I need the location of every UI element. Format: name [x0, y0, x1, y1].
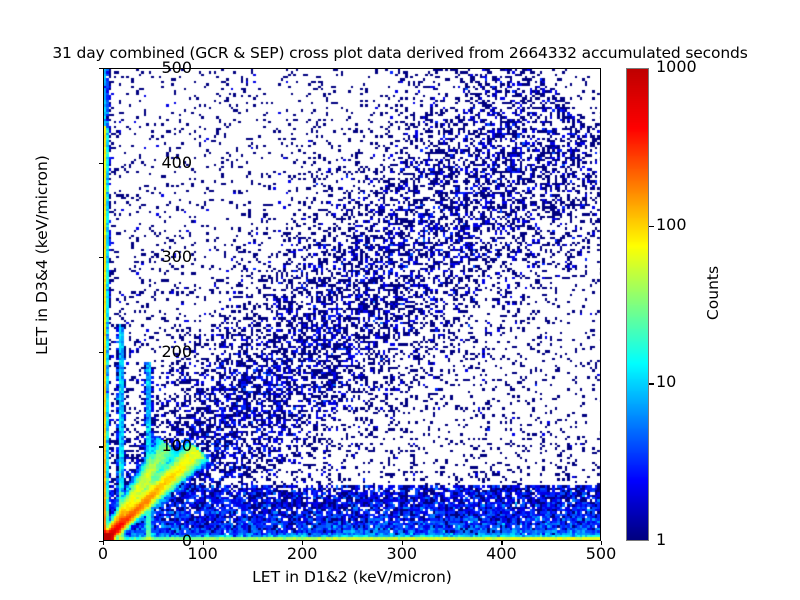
heatmap-canvas — [104, 69, 601, 541]
y-axis-label: LET in D3&4 (keV/micron) — [33, 15, 51, 495]
plot-area — [103, 68, 601, 541]
x-tick-label: 0 — [98, 546, 108, 562]
colorbar-tick-label: 1 — [656, 532, 666, 548]
y-tick-label: 100 — [161, 438, 192, 454]
colorbar-tick-label: 100 — [656, 217, 687, 233]
y-tick-mark — [99, 446, 103, 447]
y-tick-label: 300 — [161, 249, 192, 265]
colorbar-gradient — [627, 69, 648, 540]
x-tick-label: 500 — [586, 546, 617, 562]
figure: 31 day combined (GCR & SEP) cross plot d… — [0, 0, 800, 600]
y-tick-label: 200 — [161, 344, 192, 360]
y-tick-label: 500 — [161, 60, 192, 76]
y-tick-mark — [99, 68, 103, 69]
x-axis-label: LET in D1&2 (keV/micron) — [103, 568, 601, 586]
x-tick-label: 200 — [287, 546, 318, 562]
y-tick-mark — [99, 163, 103, 164]
x-tick-label: 100 — [187, 546, 218, 562]
x-tick-label: 300 — [387, 546, 418, 562]
colorbar-tick-mark — [649, 226, 654, 227]
colorbar-tick-label: 1000 — [656, 59, 697, 75]
y-tick-mark — [99, 352, 103, 353]
y-tick-mark — [99, 257, 103, 258]
colorbar — [626, 68, 649, 541]
y-tick-label: 400 — [161, 155, 192, 171]
colorbar-tick-mark — [649, 383, 654, 384]
colorbar-label: Counts — [704, 193, 722, 393]
colorbar-tick-label: 10 — [656, 374, 676, 390]
x-tick-label: 400 — [486, 546, 517, 562]
